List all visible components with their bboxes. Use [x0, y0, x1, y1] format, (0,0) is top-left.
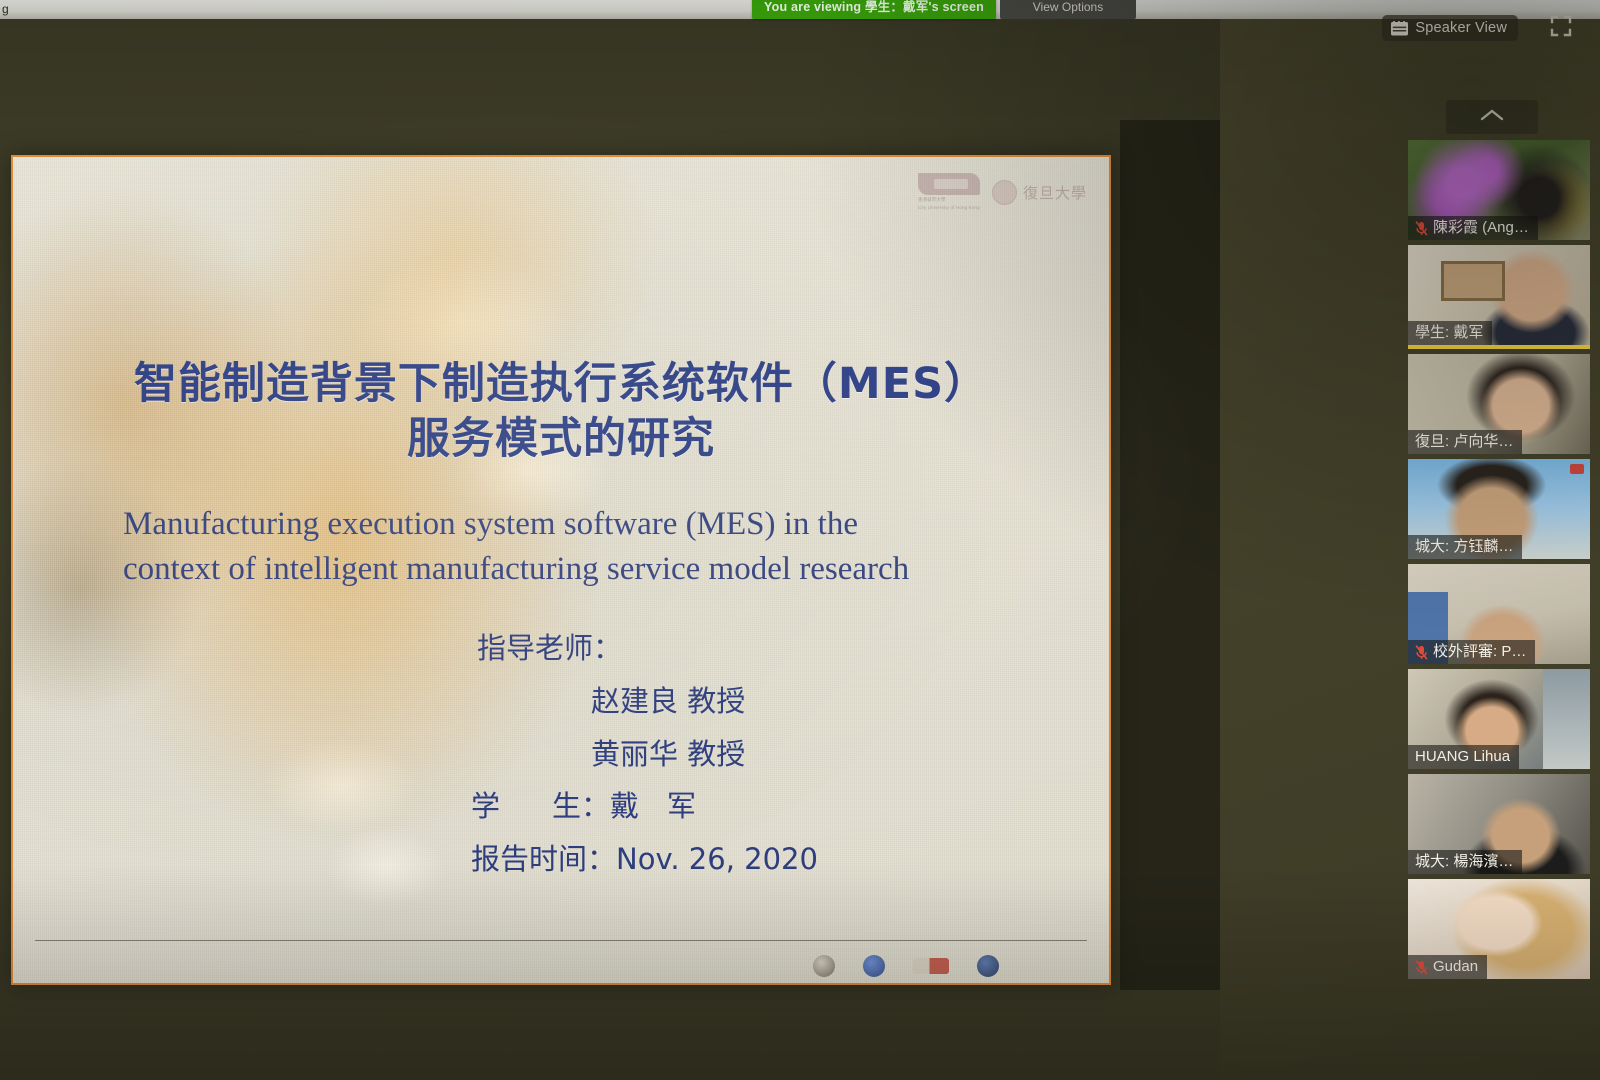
participant-name-label: 學生: 戴军: [1415, 324, 1483, 342]
share-stage-letterbox: [1120, 120, 1220, 990]
shared-slide: 香港城市大學 City University of Hong Kong 復旦大學…: [11, 155, 1111, 985]
footer-badge-seal-icon: [813, 955, 835, 977]
grid-view-icon: [1391, 21, 1408, 36]
slide-title-chinese: 智能制造背景下制造执行系统软件（MES） 服务模式的研究: [13, 357, 1109, 467]
slide-title-english-line-1: Manufacturing execution system software …: [123, 502, 1023, 547]
participant-name-plate: HUANG Lihua: [1408, 745, 1519, 769]
participant-name-plate: 城大: 楊海濱…: [1408, 850, 1522, 874]
participant-name-label: HUANG Lihua: [1415, 748, 1510, 766]
report-date-line: 报告时间：Nov. 26, 2020: [463, 833, 1023, 886]
participant-name-plate: 城大: 方钰麟…: [1408, 535, 1522, 559]
photographed-screen: g You are viewing 學生：戴军's screen View Op…: [0, 0, 1600, 1080]
participant-name-label: 城大: 方钰麟…: [1415, 538, 1513, 556]
slide-metadata-block: 指导老师： 赵建良 教授 黄丽华 教授 学生：戴军 报告时间：Nov. 26, …: [463, 622, 1023, 886]
participant-tile-chen-caixia[interactable]: 陳彩霞 (Ang…: [1408, 140, 1590, 240]
student-name-b: 军: [667, 789, 696, 823]
participant-tile-gudan[interactable]: Gudan: [1408, 879, 1590, 979]
student-label-a: 学: [471, 789, 500, 823]
participant-name-plate: 復旦: 卢向华…: [1408, 430, 1522, 454]
mic-muted-icon: [1415, 645, 1428, 660]
slide-title-english: Manufacturing execution system software …: [123, 502, 1023, 592]
taskbar-text-fragment: g: [0, 0, 9, 19]
filmstrip-collapse-button[interactable]: [1446, 100, 1538, 134]
slide-footer-badges: [813, 955, 999, 977]
slide-title-chinese-line-1: 智能制造背景下制造执行系统软件（MES）: [13, 357, 1109, 412]
advisor-label: 指导老师：: [463, 622, 1023, 675]
speaker-view-label: Speaker View: [1415, 20, 1507, 36]
footer-badge-flag-icon: [913, 958, 949, 974]
participant-tile-fang-yulin[interactable]: 城大: 方钰麟…: [1408, 459, 1590, 559]
participant-name-plate: Gudan: [1408, 955, 1487, 979]
participant-name-label: 陳彩霞 (Ang…: [1433, 219, 1529, 237]
desktop-top-strip: g You are viewing 學生：戴军's screen View Op…: [0, 0, 1600, 19]
participant-name-plate: 校外評審: P…: [1408, 640, 1535, 664]
mic-muted-icon: [1415, 960, 1428, 975]
participant-name-label: 城大: 楊海濱…: [1415, 853, 1513, 871]
screen-share-banner: You are viewing 學生：戴军's screen: [752, 0, 996, 19]
participant-name-label: 校外評審: P…: [1433, 643, 1526, 661]
chevron-up-icon: [1479, 108, 1505, 127]
participant-filmstrip: 陳彩霞 (Ang…學生: 戴军復旦: 卢向华…城大: 方钰麟…校外評審: P…H…: [1390, 100, 1590, 984]
mic-muted-icon: [1415, 221, 1428, 236]
fullscreen-button[interactable]: [1546, 13, 1576, 43]
student-line: 学生：戴军: [463, 780, 1023, 833]
slide-content: 智能制造背景下制造执行系统软件（MES） 服务模式的研究 Manufacturi…: [13, 157, 1109, 983]
slide-footer-rule: [35, 940, 1087, 941]
speaker-view-button[interactable]: Speaker View: [1382, 15, 1518, 41]
participant-name-plate: 陳彩霞 (Ang…: [1408, 216, 1538, 240]
report-date-label: 报告时间：: [471, 842, 616, 876]
report-date-value: Nov. 26, 2020: [616, 842, 818, 876]
slide-title-english-line-2: context of intelligent manufacturing ser…: [123, 547, 1023, 592]
participant-tile-dai-jun[interactable]: 學生: 戴军: [1408, 245, 1590, 349]
participant-tile-yang-haibin[interactable]: 城大: 楊海濱…: [1408, 774, 1590, 874]
footer-badge-blue-icon: [863, 955, 885, 977]
advisor-name-2: 黄丽华 教授: [463, 728, 1023, 781]
participant-name-label: Gudan: [1433, 958, 1478, 976]
fullscreen-icon: [1550, 15, 1572, 42]
view-options-button[interactable]: View Options: [1000, 0, 1136, 19]
student-name-a: 戴: [610, 789, 639, 823]
participant-tile-huang-lihua[interactable]: HUANG Lihua: [1408, 669, 1590, 769]
participant-tile-external-reviewer[interactable]: 校外評審: P…: [1408, 564, 1590, 664]
slide-title-chinese-line-2: 服务模式的研究: [13, 412, 1109, 467]
participant-tile-lu-xianghua[interactable]: 復旦: 卢向华…: [1408, 354, 1590, 454]
participant-name-plate: 學生: 戴军: [1408, 321, 1492, 345]
student-label-b: 生：: [552, 789, 610, 823]
footer-badge-globe-icon: [977, 955, 999, 977]
participant-name-label: 復旦: 卢向华…: [1415, 433, 1513, 451]
advisor-name-1: 赵建良 教授: [463, 675, 1023, 728]
